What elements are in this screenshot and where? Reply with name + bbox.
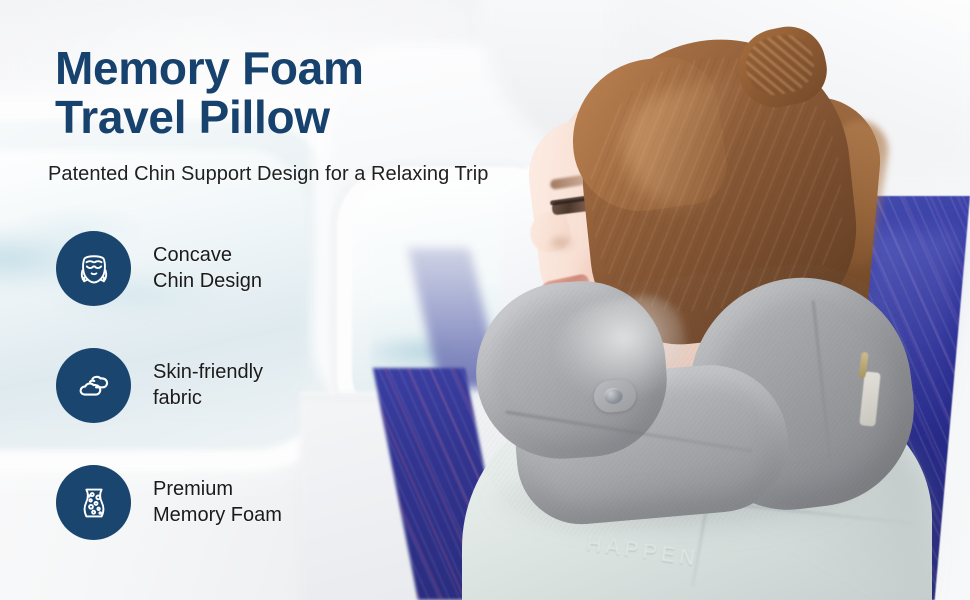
memory-foam-sponge-icon: [72, 481, 116, 525]
subtitle: Patented Chin Support Design for a Relax…: [48, 163, 488, 186]
feature-item-premium-memory-foam: Premium Memory Foam: [56, 465, 282, 540]
feature-item-skin-friendly-fabric: Skin-friendly fabric: [56, 348, 263, 423]
travel-pillow: [528, 0, 970, 600]
feature-badge: [56, 465, 131, 540]
feature-label: Concave Chin Design: [153, 243, 262, 294]
model-photo: HAPPEN: [528, 0, 970, 600]
sleeping-face-icon: [72, 247, 116, 291]
feature-badge: [56, 231, 131, 306]
feature-item-concave-chin-design: Concave Chin Design: [56, 231, 262, 306]
feature-badge: [56, 348, 131, 423]
cloud-icon: [72, 364, 116, 408]
feature-label: Skin-friendly fabric: [153, 360, 263, 411]
page-title: Memory Foam Travel Pillow: [55, 44, 364, 142]
feature-label: Premium Memory Foam: [153, 477, 282, 528]
product-banner: HAPPEN: [0, 0, 970, 600]
